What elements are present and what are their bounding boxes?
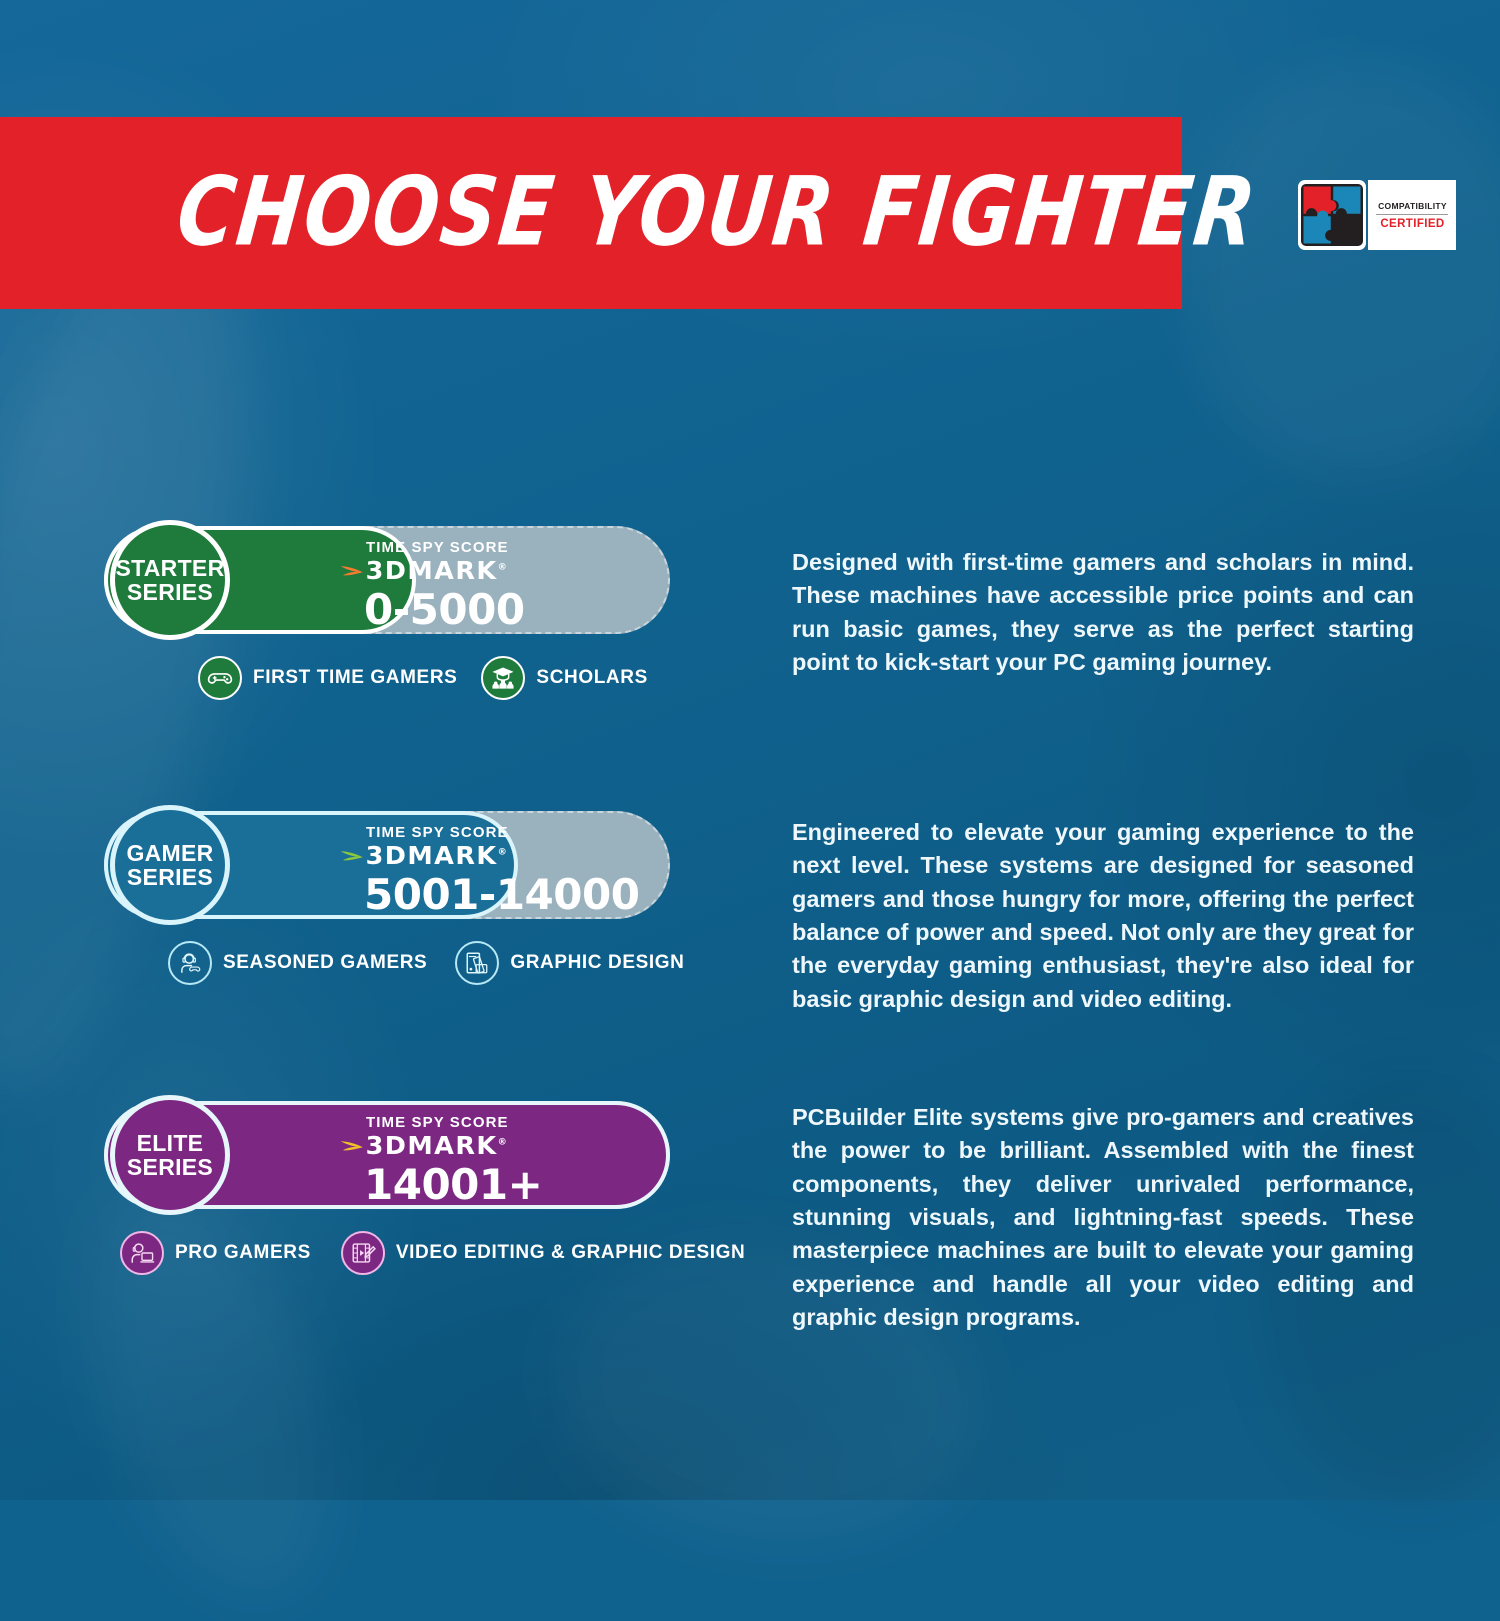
3dmark-logo: 3DMARK® bbox=[340, 1133, 542, 1158]
3dmark-wordmark: 3DMARK® bbox=[366, 558, 509, 583]
gamer-score-pill: TIME SPY SCORE 3DMARK® 5001-14000 GAMER … bbox=[104, 805, 676, 925]
color-swatch-icon bbox=[455, 941, 499, 985]
video-edit-pencil-icon bbox=[341, 1231, 385, 1275]
tag-label: SCHOLARS bbox=[536, 667, 647, 689]
starter-score-block: TIME SPY SCORE 3DMARK® 0-5000 bbox=[340, 540, 525, 631]
badge-line-1: GAMER bbox=[126, 841, 213, 865]
score-label: TIME SPY SCORE bbox=[366, 540, 525, 555]
certified-card: COMPATIBILITY CERTIFIED bbox=[1368, 180, 1456, 250]
starter-description: Designed with first-time gamers and scho… bbox=[792, 546, 1414, 679]
score-value: 5001-14000 bbox=[364, 874, 639, 916]
compatibility-certified-badge: COMPATIBILITY CERTIFIED bbox=[1298, 180, 1456, 250]
badge-line-2: SERIES bbox=[127, 1155, 213, 1179]
tier-starter: TIME SPY SCORE 3DMARK® 0-5000 STARTER SE… bbox=[0, 520, 760, 700]
gamer-tag-row: SEASONED GAMERS GRAPHIC DESIGN bbox=[168, 941, 760, 985]
3dmark-logo: 3DMARK® bbox=[340, 558, 525, 583]
tag-scholars[interactable]: SCHOLARS bbox=[481, 656, 647, 700]
tier-elite: TIME SPY SCORE 3DMARK® 14001+ ELITE SERI… bbox=[0, 1095, 760, 1275]
pro-gamer-desk-icon bbox=[120, 1231, 164, 1275]
score-value: 0-5000 bbox=[364, 589, 525, 631]
badge-divider bbox=[1376, 214, 1448, 215]
tag-pro-gamers[interactable]: PRO GAMERS bbox=[120, 1231, 311, 1275]
3dmark-wordmark: 3DMARK® bbox=[366, 843, 509, 868]
puzzle-icon bbox=[1298, 180, 1366, 250]
tag-label: PRO GAMERS bbox=[175, 1242, 311, 1264]
badge-line-2: SERIES bbox=[127, 865, 213, 889]
gamer-score-block: TIME SPY SCORE 3DMARK® 5001-14000 bbox=[340, 825, 639, 916]
badge-line-2: CERTIFIED bbox=[1380, 218, 1444, 230]
page-title: CHOOSE YOUR FIGHTER bbox=[173, 165, 1261, 260]
elite-score-pill: TIME SPY SCORE 3DMARK® 14001+ ELITE SERI… bbox=[104, 1095, 676, 1215]
tag-first-time-gamers[interactable]: FIRST TIME GAMERS bbox=[198, 656, 457, 700]
tier-gamer: TIME SPY SCORE 3DMARK® 5001-14000 GAMER … bbox=[0, 805, 760, 985]
starter-tag-row: FIRST TIME GAMERS SCHOLARS bbox=[198, 656, 760, 700]
3dmark-wordmark: 3DMARK® bbox=[366, 1133, 509, 1158]
tag-label: FIRST TIME GAMERS bbox=[253, 667, 457, 689]
background-streak bbox=[1180, 60, 1500, 480]
elite-description: PCBuilder Elite systems give pro-gamers … bbox=[792, 1101, 1414, 1335]
tag-graphic-design[interactable]: GRAPHIC DESIGN bbox=[455, 941, 684, 985]
tag-label: VIDEO EDITING & GRAPHIC DESIGN bbox=[396, 1242, 745, 1264]
badge-line-2: SERIES bbox=[127, 580, 213, 604]
3dmark-swoosh-icon bbox=[340, 560, 364, 582]
gamepad-icon bbox=[198, 656, 242, 700]
score-value: 14001+ bbox=[364, 1164, 542, 1206]
gamer-description: Engineered to elevate your gaming experi… bbox=[792, 816, 1414, 1016]
score-label: TIME SPY SCORE bbox=[366, 1115, 542, 1130]
graduate-group-icon bbox=[481, 656, 525, 700]
tag-label: GRAPHIC DESIGN bbox=[510, 952, 684, 974]
3dmark-swoosh-icon bbox=[340, 845, 364, 867]
3dmark-swoosh-icon bbox=[340, 1135, 364, 1157]
tag-seasoned-gamers[interactable]: SEASONED GAMERS bbox=[168, 941, 427, 985]
tag-video-editing-graphic-design[interactable]: VIDEO EDITING & GRAPHIC DESIGN bbox=[341, 1231, 745, 1275]
headset-gamer-icon bbox=[168, 941, 212, 985]
tag-label: SEASONED GAMERS bbox=[223, 952, 427, 974]
elite-series-badge: ELITE SERIES bbox=[110, 1095, 230, 1215]
badge-line-1: ELITE bbox=[137, 1131, 204, 1155]
score-label: TIME SPY SCORE bbox=[366, 825, 639, 840]
header-banner: CHOOSE YOUR FIGHTER COMPATIBILITY CERTIF… bbox=[0, 117, 1182, 309]
3dmark-logo: 3DMARK® bbox=[340, 843, 639, 868]
gamer-series-badge: GAMER SERIES bbox=[110, 805, 230, 925]
starter-score-pill: TIME SPY SCORE 3DMARK® 0-5000 STARTER SE… bbox=[104, 520, 676, 640]
elite-tag-row: PRO GAMERS VIDEO EDITING & GRAPHIC DESIG… bbox=[120, 1231, 760, 1275]
badge-line-1: COMPATIBILITY bbox=[1378, 201, 1447, 211]
starter-series-badge: STARTER SERIES bbox=[110, 520, 230, 640]
elite-score-block: TIME SPY SCORE 3DMARK® 14001+ bbox=[340, 1115, 542, 1206]
badge-line-1: STARTER bbox=[115, 556, 224, 580]
